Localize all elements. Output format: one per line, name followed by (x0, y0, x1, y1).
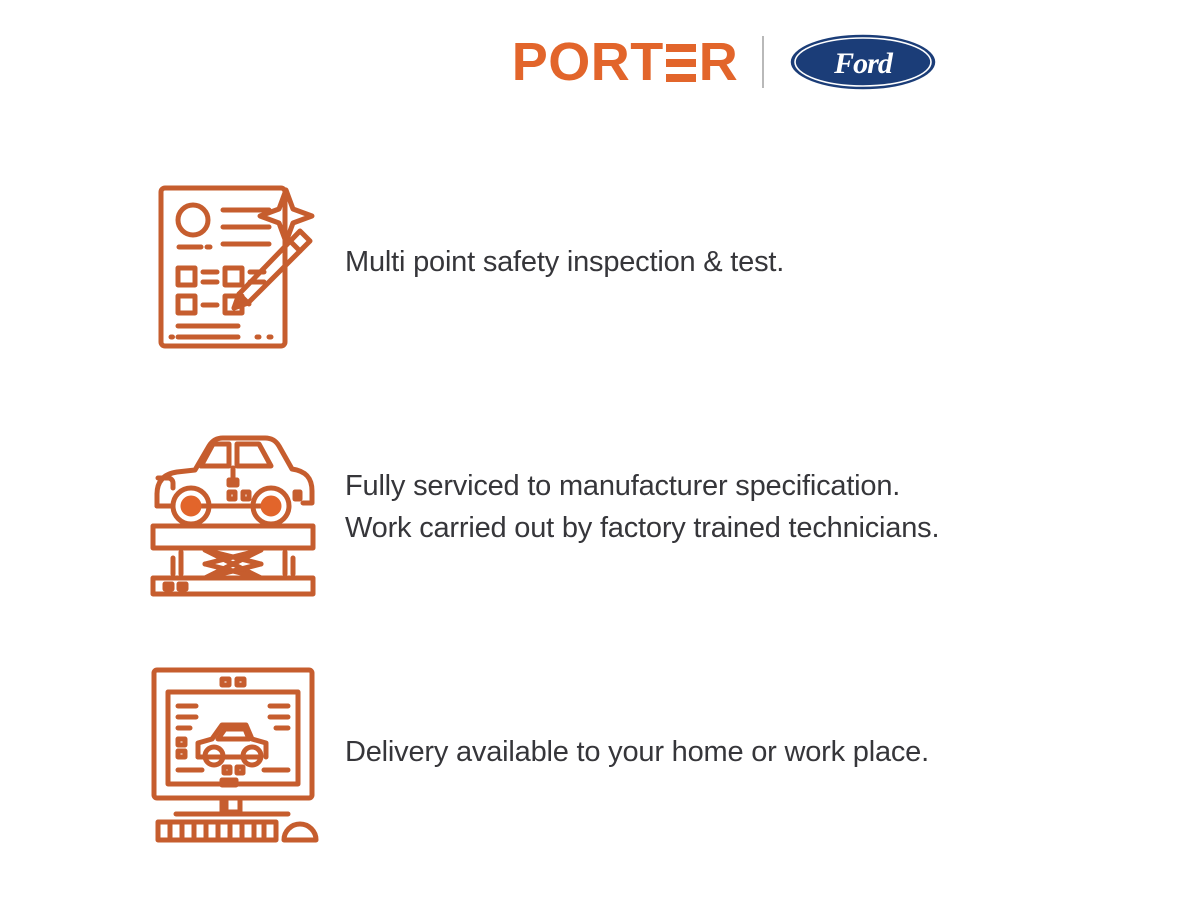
porter-stylized-e-icon (666, 44, 696, 82)
checklist-pencil-icon (140, 170, 325, 355)
porter-logo: PORT R (512, 35, 739, 89)
porter-wordmark-part2: R (699, 35, 739, 89)
ford-logo-icon: Ford (788, 32, 938, 92)
feature-row: Multi point safety inspection & test. (140, 140, 1160, 385)
brand-divider (762, 36, 764, 88)
feature-text: Multi point safety inspection & test. (345, 242, 784, 283)
feature-row: Fully serviced to manufacturer specifica… (140, 385, 1160, 630)
porter-ford-benefits-slide: PORT R Ford (0, 0, 1200, 900)
desktop-car-delivery-icon (140, 660, 325, 845)
feature-list: Multi point safety inspection & test. (140, 140, 1160, 875)
porter-wordmark-part1: PORT (512, 35, 664, 89)
feature-row: Delivery available to your home or work … (140, 630, 1160, 875)
feature-text: Delivery available to your home or work … (345, 732, 929, 773)
svg-text:Ford: Ford (833, 47, 894, 80)
car-on-lift-icon (140, 415, 325, 600)
feature-text: Fully serviced to manufacturer specifica… (345, 466, 939, 548)
brand-header: PORT R Ford (0, 32, 1200, 92)
